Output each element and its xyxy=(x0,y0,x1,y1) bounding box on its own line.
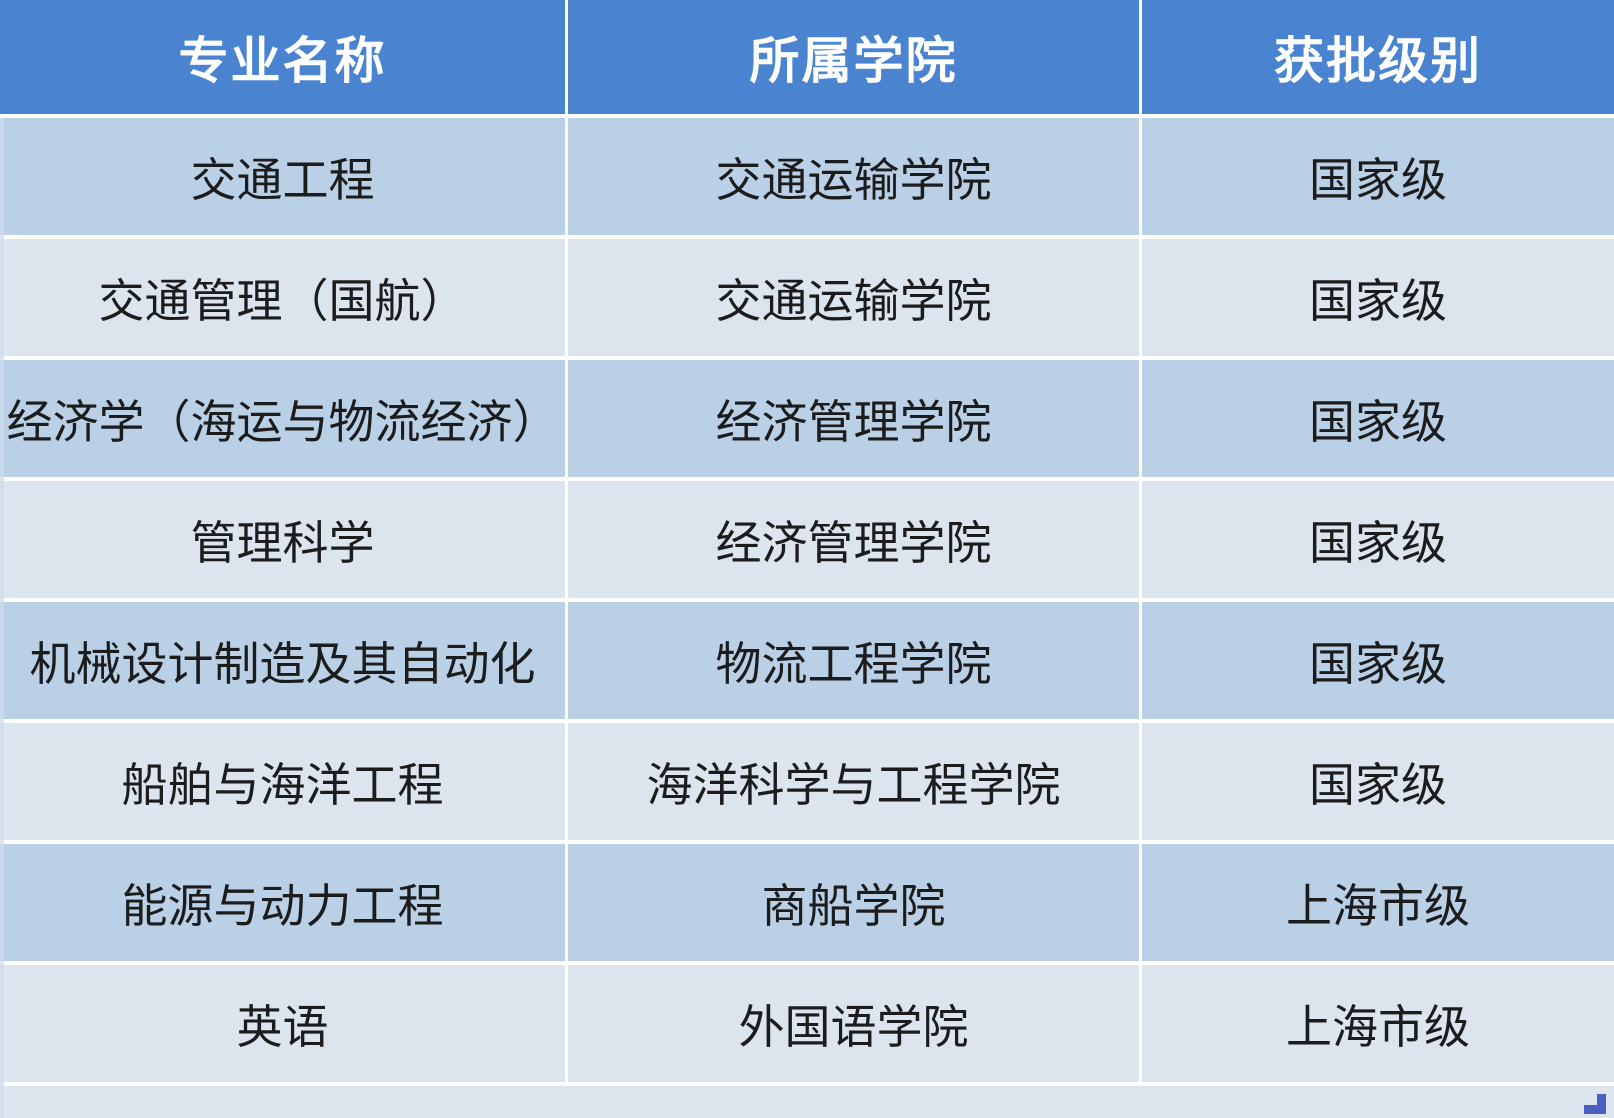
cell-major[interactable]: 机械设计制造及其自动化 xyxy=(0,602,568,723)
cell-major[interactable]: 船舶与海洋工程 xyxy=(0,723,568,844)
cell-level[interactable]: 国家级 xyxy=(1142,239,1614,360)
cell-school[interactable]: 物流工程学院 xyxy=(568,602,1142,723)
table-row[interactable]: 船舶与海洋工程 海洋科学与工程学院 国家级 xyxy=(0,723,1614,844)
table-container: 专业名称 所属学院 获批级别 交通工程 交通运输学院 国家级 交通管理（国航） … xyxy=(0,0,1614,1118)
header-row: 专业名称 所属学院 获批级别 xyxy=(0,0,1614,118)
table-row[interactable]: 英语 外国语学院 上海市级 xyxy=(0,965,1614,1086)
column-header-level[interactable]: 获批级别 xyxy=(1142,0,1614,118)
table-row[interactable]: 经济学（海运与物流经济） 经济管理学院 国家级 xyxy=(0,360,1614,481)
approved-majors-table: 专业名称 所属学院 获批级别 交通工程 交通运输学院 国家级 交通管理（国航） … xyxy=(0,0,1614,1086)
cell-major[interactable]: 交通工程 xyxy=(0,118,568,239)
column-header-school[interactable]: 所属学院 xyxy=(568,0,1142,118)
table-row[interactable]: 交通管理（国航） 交通运输学院 国家级 xyxy=(0,239,1614,360)
cell-school[interactable]: 海洋科学与工程学院 xyxy=(568,723,1142,844)
cell-level[interactable]: 国家级 xyxy=(1142,602,1614,723)
table-row[interactable]: 机械设计制造及其自动化 物流工程学院 国家级 xyxy=(0,602,1614,723)
cell-level[interactable]: 国家级 xyxy=(1142,723,1614,844)
cell-school[interactable]: 外国语学院 xyxy=(568,965,1142,1086)
resize-handle-arm-vertical xyxy=(1597,1094,1606,1114)
cell-level[interactable]: 国家级 xyxy=(1142,481,1614,602)
cell-major[interactable]: 交通管理（国航） xyxy=(0,239,568,360)
table-row[interactable]: 交通工程 交通运输学院 国家级 xyxy=(0,118,1614,239)
resize-handle-arm-horizontal xyxy=(1584,1105,1606,1114)
cell-level[interactable]: 国家级 xyxy=(1142,118,1614,239)
table-body: 交通工程 交通运输学院 国家级 交通管理（国航） 交通运输学院 国家级 经济学（… xyxy=(0,118,1614,1086)
cell-major[interactable]: 英语 xyxy=(0,965,568,1086)
cell-level[interactable]: 上海市级 xyxy=(1142,965,1614,1086)
column-header-major[interactable]: 专业名称 xyxy=(0,0,568,118)
cell-level[interactable]: 上海市级 xyxy=(1142,844,1614,965)
table-row[interactable]: 管理科学 经济管理学院 国家级 xyxy=(0,481,1614,602)
table-header: 专业名称 所属学院 获批级别 xyxy=(0,0,1614,118)
cell-major[interactable]: 管理科学 xyxy=(0,481,568,602)
cell-school[interactable]: 经济管理学院 xyxy=(568,360,1142,481)
resize-handle-icon[interactable] xyxy=(1584,1094,1606,1114)
table-row[interactable]: 能源与动力工程 商船学院 上海市级 xyxy=(0,844,1614,965)
cell-school[interactable]: 交通运输学院 xyxy=(568,118,1142,239)
cell-major[interactable]: 能源与动力工程 xyxy=(0,844,568,965)
cell-school[interactable]: 交通运输学院 xyxy=(568,239,1142,360)
cell-school[interactable]: 商船学院 xyxy=(568,844,1142,965)
cell-major[interactable]: 经济学（海运与物流经济） xyxy=(0,360,568,481)
cell-level[interactable]: 国家级 xyxy=(1142,360,1614,481)
cell-school[interactable]: 经济管理学院 xyxy=(568,481,1142,602)
